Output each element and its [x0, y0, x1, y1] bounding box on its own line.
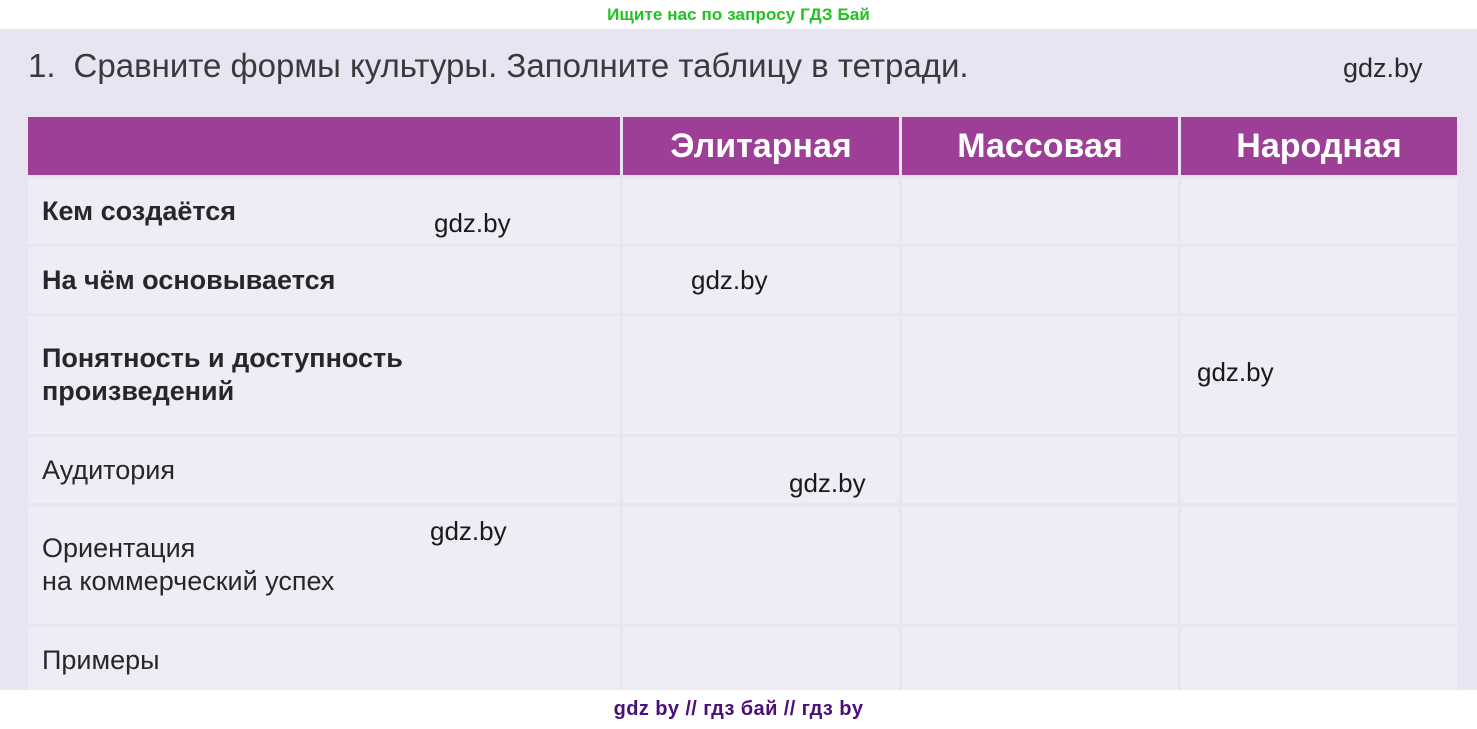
table-row: Ориентация на коммерческий успех	[28, 506, 1457, 624]
answer-cell-folk-1[interactable]	[1181, 247, 1457, 313]
answer-cell-elite-2[interactable]	[623, 316, 899, 434]
table-header-row: Элитарная Массовая Народная	[28, 117, 1457, 175]
table-header: Элитарная Массовая Народная	[28, 117, 1457, 175]
answer-cell-mass-0[interactable]	[902, 178, 1178, 244]
row-label-examples: Примеры	[28, 627, 620, 693]
row-label-based-on: На чём основывается	[28, 247, 620, 313]
answer-cell-elite-4[interactable]	[623, 506, 899, 624]
row-label-audience: Аудитория	[28, 437, 620, 503]
table-body: Кем создаётся На чём основывается Понятн…	[28, 178, 1457, 693]
task-number: 1.	[28, 47, 56, 85]
answer-cell-mass-3[interactable]	[902, 437, 1178, 503]
answer-cell-mass-1[interactable]	[902, 247, 1178, 313]
promo-banner: Ищите нас по запросу ГДЗ Бай	[0, 0, 1477, 29]
answer-cell-folk-2[interactable]	[1181, 316, 1457, 434]
answer-cell-mass-4[interactable]	[902, 506, 1178, 624]
answer-cell-mass-2[interactable]	[902, 316, 1178, 434]
table-header-cell-mass: Массовая	[902, 117, 1178, 175]
table-row: Примеры	[28, 627, 1457, 693]
promo-banner-text: Ищите нас по запросу ГДЗ Бай	[607, 5, 870, 25]
table-row: Кем создаётся	[28, 178, 1457, 244]
answer-cell-folk-3[interactable]	[1181, 437, 1457, 503]
task-instruction-text: Сравните формы культуры. Заполните табли…	[74, 47, 969, 85]
footer-strip: gdz by // гдз бай // гдз by	[0, 690, 1477, 729]
answer-cell-elite-5[interactable]	[623, 627, 899, 693]
footer-text: gdz by // гдз бай // гдз by	[614, 698, 864, 721]
answer-cell-elite-1[interactable]	[623, 247, 899, 313]
table-row: На чём основывается	[28, 247, 1457, 313]
worksheet-page: 1. Сравните формы культуры. Заполните та…	[0, 29, 1477, 690]
row-label-clarity-accessibility: Понятность и доступность произведений	[28, 316, 620, 434]
table-header-cell-folk: Народная	[1181, 117, 1457, 175]
table-row: Аудитория	[28, 437, 1457, 503]
table-row: Понятность и доступность произведений	[28, 316, 1457, 434]
culture-comparison-table: Элитарная Массовая Народная Кем создаётс…	[25, 114, 1460, 696]
task-heading: 1. Сравните формы культуры. Заполните та…	[28, 47, 969, 85]
answer-cell-folk-0[interactable]	[1181, 178, 1457, 244]
table-header-cell-blank	[28, 117, 620, 175]
answer-cell-elite-0[interactable]	[623, 178, 899, 244]
answer-cell-folk-4[interactable]	[1181, 506, 1457, 624]
row-label-commercial-orientation: Ориентация на коммерческий успех	[28, 506, 620, 624]
row-label-created-by: Кем создаётся	[28, 178, 620, 244]
answer-cell-elite-3[interactable]	[623, 437, 899, 503]
table-header-cell-elite: Элитарная	[623, 117, 899, 175]
answer-cell-folk-5[interactable]	[1181, 627, 1457, 693]
answer-cell-mass-5[interactable]	[902, 627, 1178, 693]
